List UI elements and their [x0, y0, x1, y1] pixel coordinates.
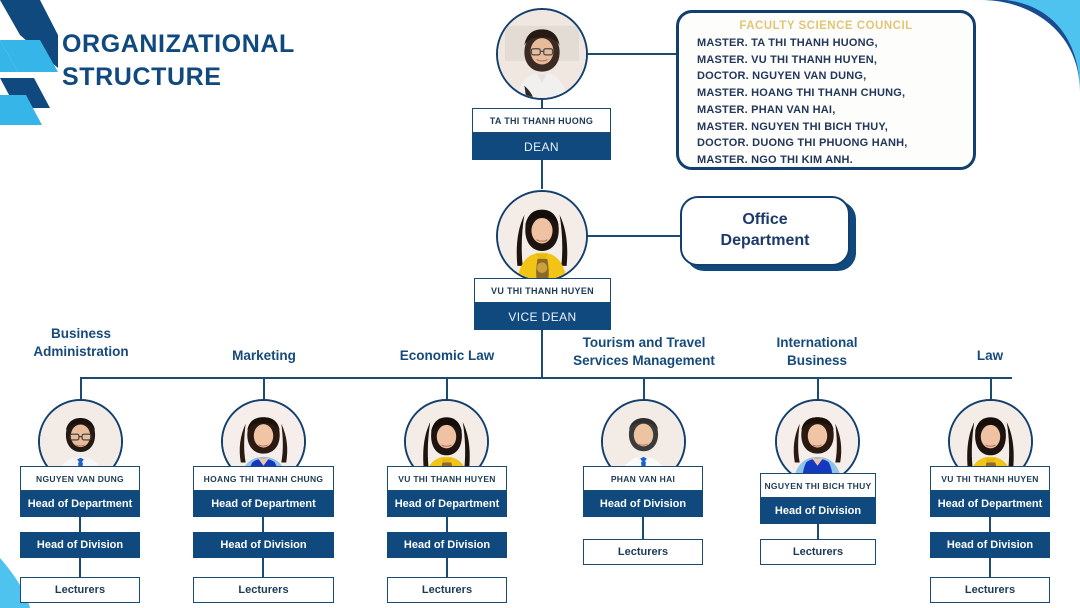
dept-heading-business-administration: Business Administration	[0, 325, 162, 361]
vice-dean-name: VU THI THANH HUYEN	[474, 278, 611, 303]
dept-0-role-1[interactable]: Head of Division	[20, 532, 140, 558]
connector-stub-4	[643, 377, 645, 399]
dean-role: DEAN	[472, 133, 611, 160]
council-title: FACULTY SCIENCE COUNCIL	[679, 20, 973, 32]
dept-3-lecturers[interactable]: Lecturers	[583, 539, 703, 565]
connector-dean-vicedean	[541, 160, 543, 189]
vice-dean-role: VICE DEAN	[474, 303, 611, 330]
dept-3-person-name: PHAN VAN HAI	[583, 466, 703, 491]
dept-5-role-1[interactable]: Head of Division	[930, 532, 1050, 558]
connector-stub-5	[817, 377, 819, 399]
dept-1-role-1[interactable]: Head of Division	[193, 532, 334, 558]
dept-heading-marketing: Marketing	[183, 347, 345, 365]
dean-name: TA THI THANH HUONG	[472, 108, 611, 133]
dept-0-label-stack: NGUYEN VAN DUNG Head of Department	[20, 466, 140, 517]
dept-2-person-name: VU THI THANH HUYEN	[387, 466, 507, 491]
connector-dept-2-b	[446, 558, 448, 577]
dept-1-label-stack: HOANG THI THANH CHUNG Head of Department	[193, 466, 334, 517]
dept-0-lecturers[interactable]: Lecturers	[20, 577, 140, 603]
connector-dept-1-b	[262, 558, 264, 577]
dept-2-role-0: Head of Department	[387, 491, 507, 517]
dept-5-person-name: VU THI THANH HUYEN	[930, 466, 1050, 491]
vice-dean-label-stack: VU THI THANH HUYEN VICE DEAN	[474, 278, 611, 330]
connector-dept-0-b	[79, 558, 81, 577]
dept-2-lecturers[interactable]: Lecturers	[387, 577, 507, 603]
dept-4-person-name: NGUYEN THI BICH THUY	[760, 473, 876, 498]
org-chart-slide: ORGANIZATIONAL STRUCTURE FACULTY SCIENCE…	[0, 0, 1080, 608]
dean-label-stack: TA THI THANH HUONG DEAN	[472, 108, 611, 160]
dept-0-person-name: NGUYEN VAN DUNG	[20, 466, 140, 491]
dept-1-lecturers[interactable]: Lecturers	[193, 577, 334, 603]
dept-5-label-stack: VU THI THANH HUYEN Head of Department	[930, 466, 1050, 517]
dept-5-lecturers[interactable]: Lecturers	[930, 577, 1050, 603]
dept-3-role-0: Head of Division	[583, 491, 703, 517]
connector-dept-0-a	[79, 517, 81, 532]
brand-logo-icon	[0, 0, 58, 130]
dept-3-label-stack: PHAN VAN HAI Head of Division	[583, 466, 703, 517]
dept-4-role-0: Head of Division	[760, 498, 876, 524]
dept-5-role-0: Head of Department	[930, 491, 1050, 517]
connector-dean-council	[588, 53, 676, 55]
connector-dept-1-a	[262, 517, 264, 532]
dept-heading-international-business: International Business	[736, 334, 898, 370]
connector-dept-5-b	[989, 558, 991, 577]
dept-1-person-name: HOANG THI THANH CHUNG	[193, 466, 334, 491]
faculty-science-council-card: FACULTY SCIENCE COUNCIL MASTER. TA THI T…	[676, 10, 976, 170]
office-department-box[interactable]: Office Department	[680, 196, 850, 266]
dept-2-role-1[interactable]: Head of Division	[387, 532, 507, 558]
avatar-dept-4	[775, 399, 860, 484]
dept-heading-tourism: Tourism and Travel Services Management	[538, 334, 750, 370]
council-member-list: MASTER. TA THI THANH HUONG, MASTER. VU T…	[679, 35, 973, 169]
connector-vicedean-office	[588, 235, 680, 237]
dept-heading-law: Law	[909, 347, 1071, 365]
dept-0-role-0: Head of Department	[20, 491, 140, 517]
connector-dept-5-a	[989, 517, 991, 532]
connector-stub-6	[990, 377, 992, 399]
dept-4-label-stack: NGUYEN THI BICH THUY Head of Division	[760, 473, 876, 524]
connector-stub-3	[446, 377, 448, 399]
connector-department-bus	[80, 377, 1012, 379]
connector-dept-3-a	[642, 517, 644, 539]
dept-heading-economic-law: Economic Law	[366, 347, 528, 365]
dept-2-label-stack: VU THI THANH HUYEN Head of Department	[387, 466, 507, 517]
dept-1-role-0: Head of Department	[193, 491, 334, 517]
connector-dept-2-a	[446, 517, 448, 532]
connector-dept-4-a	[817, 524, 819, 539]
avatar-vice-dean	[496, 190, 588, 282]
dept-4-lecturers[interactable]: Lecturers	[760, 539, 876, 565]
corner-arc-decoration-icon	[960, 0, 1080, 92]
connector-stub-1	[80, 377, 82, 399]
avatar-dean	[496, 8, 588, 100]
connector-stub-2	[263, 377, 265, 399]
page-title: ORGANIZATIONAL STRUCTURE	[62, 28, 295, 94]
